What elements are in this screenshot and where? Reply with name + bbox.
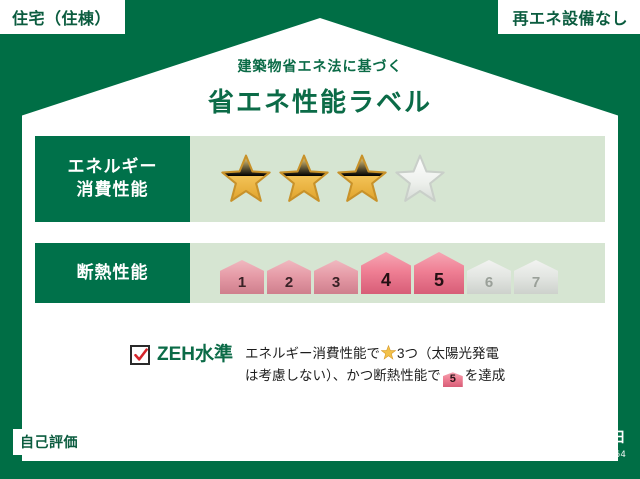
- zeh-desc-line1-before: エネルギー消費性能で: [245, 346, 380, 361]
- zeh-checkbox[interactable]: [130, 345, 150, 365]
- title-main: 省エネ性能ラベル: [0, 82, 640, 119]
- zeh-standard-note: ZEH水準 エネルギー消費性能で3つ（太陽光発電 は考慮しない）、かつ断熱性能で…: [130, 343, 505, 388]
- star-icon: [278, 153, 330, 205]
- title-subtitle: 建築物省エネ法に基づく: [0, 56, 640, 76]
- insulation-grade-1: 1: [220, 260, 264, 294]
- insulation-grade-5: 5: [414, 252, 464, 294]
- insulation-grade-6: 6: [467, 260, 511, 294]
- building-type-tag: 住宅（住棟）: [0, 0, 125, 34]
- page-title: 建築物省エネ法に基づく 省エネ性能ラベル: [0, 56, 640, 119]
- star-icon: [394, 153, 446, 205]
- insulation-grade-scale: 1234567: [190, 243, 605, 303]
- zeh-desc-line1-after: 3つ（太陽光発電: [397, 346, 499, 361]
- footer-left-group: 自己評価 広島県福山市東川口町３丁目: [13, 429, 269, 455]
- label-footer: 自己評価 広島県福山市東川口町３丁目 評価日 2024年9月2日 52b66eb…: [0, 421, 640, 479]
- insulation-grade-2: 2: [267, 260, 311, 294]
- energy-performance-label: 住宅（住棟） 再エネ設備なし 建築物省エネ法に基づく 省エネ性能ラベル エネルギ…: [0, 0, 640, 479]
- energy-label-line2: 消費性能: [77, 179, 149, 202]
- zeh-desc-line2-before: は考慮しない）、かつ断熱性能で: [245, 368, 441, 383]
- inline-grade-badge: 5: [443, 372, 463, 387]
- insulation-grade-7: 7: [514, 260, 558, 294]
- insulation-performance-row: 断熱性能 1234567: [35, 243, 605, 303]
- energy-star-rating: [190, 136, 605, 222]
- renewable-energy-tag-label: 再エネ設備なし: [512, 5, 628, 29]
- energy-performance-row: エネルギー 消費性能: [35, 136, 605, 222]
- self-evaluation-badge: 自己評価: [13, 429, 85, 455]
- evaluation-date: 評価日 2024年9月2日: [485, 427, 626, 447]
- zeh-description: エネルギー消費性能で3つ（太陽光発電 は考慮しない）、かつ断熱性能で5を達成: [245, 343, 505, 388]
- energy-performance-label: エネルギー 消費性能: [35, 136, 190, 222]
- zeh-desc-line2-after: を達成: [465, 368, 506, 383]
- check-icon: [133, 347, 149, 363]
- building-type-tag-label: 住宅（住棟）: [12, 5, 111, 29]
- insulation-performance-label: 断熱性能: [35, 243, 190, 303]
- zeh-description-line1: エネルギー消費性能で3つ（太陽光発電: [245, 343, 505, 365]
- property-address: 広島県福山市東川口町３丁目: [93, 432, 269, 452]
- renewable-energy-tag: 再エネ設備なし: [498, 0, 640, 34]
- energy-label-line1: エネルギー: [68, 156, 158, 179]
- zeh-title: ZEH水準: [157, 343, 233, 367]
- insulation-grade-4: 4: [361, 252, 411, 294]
- inline-star-icon: [381, 345, 396, 360]
- evaluation-id: 52b66eb8-2f4d-4c64: [485, 450, 626, 460]
- zeh-description-line2: は考慮しない）、かつ断熱性能で5を達成: [245, 365, 505, 387]
- insulation-label-line1: 断熱性能: [77, 262, 149, 285]
- insulation-grade-3: 3: [314, 260, 358, 294]
- star-icon: [220, 153, 272, 205]
- star-icon: [336, 153, 388, 205]
- footer-right-group: 評価日 2024年9月2日 52b66eb8-2f4d-4c64: [485, 427, 626, 460]
